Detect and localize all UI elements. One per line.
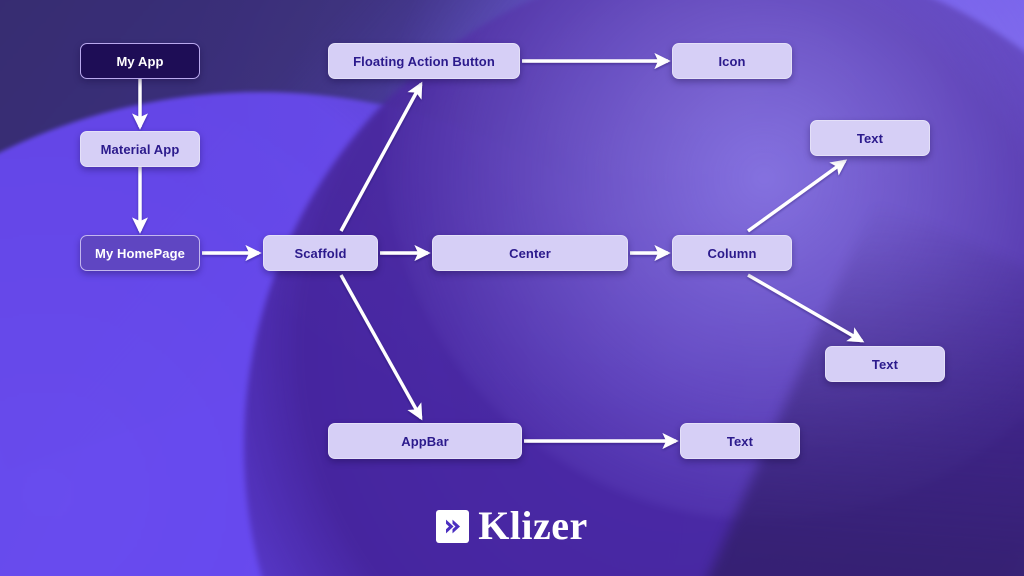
node-label: Column — [708, 246, 757, 261]
node-label: Material App — [101, 142, 180, 157]
background-vignette — [0, 0, 1024, 576]
node-material-app[interactable]: Material App — [80, 131, 200, 167]
node-text-bottom[interactable]: Text — [680, 423, 800, 459]
node-label: My HomePage — [95, 246, 185, 261]
node-icon[interactable]: Icon — [672, 43, 792, 79]
node-center[interactable]: Center — [432, 235, 628, 271]
node-fab[interactable]: Floating Action Button — [328, 43, 520, 79]
diagram-canvas: My AppMaterial AppMy HomePageScaffoldFlo… — [0, 0, 1024, 576]
node-text-top[interactable]: Text — [810, 120, 930, 156]
node-label: Text — [872, 357, 898, 372]
node-label: Scaffold — [294, 246, 346, 261]
node-text-mid[interactable]: Text — [825, 346, 945, 382]
node-my-app[interactable]: My App — [80, 43, 200, 79]
node-my-homepage[interactable]: My HomePage — [80, 235, 200, 271]
node-label: Text — [727, 434, 753, 449]
node-label: My App — [116, 54, 163, 69]
node-scaffold[interactable]: Scaffold — [263, 235, 378, 271]
node-label: Text — [857, 131, 883, 146]
node-label: Icon — [718, 54, 745, 69]
node-label: AppBar — [401, 434, 449, 449]
node-column[interactable]: Column — [672, 235, 792, 271]
klizer-logo: Klizer — [0, 506, 1024, 546]
node-label: Center — [509, 246, 551, 261]
double-chevron-right-icon — [436, 510, 469, 543]
logo-wordmark: Klizer — [478, 506, 588, 546]
node-appbar[interactable]: AppBar — [328, 423, 522, 459]
node-label: Floating Action Button — [353, 54, 495, 69]
